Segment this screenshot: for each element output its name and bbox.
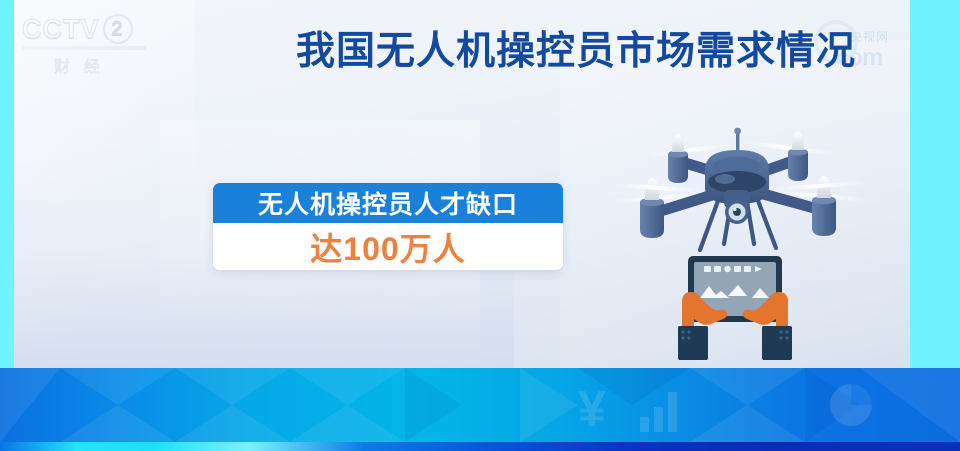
left-accent-stripe xyxy=(0,0,14,368)
cctv-logo-subtitle: 财经 xyxy=(22,53,146,77)
cctv-channel-number: 2 xyxy=(103,14,133,44)
bottom-decorative-band: ¥ xyxy=(0,368,960,451)
callout-header-label: 无人机操控员人才缺口 xyxy=(258,185,518,221)
band-lower-strip xyxy=(0,442,960,451)
yen-symbol-icon: ¥ xyxy=(578,384,606,434)
cctv-logo-text: CCTV xyxy=(22,14,100,44)
pie-chart-icon xyxy=(830,384,872,426)
band-geometric-pattern xyxy=(0,368,960,442)
cctv-logo-underline xyxy=(22,46,146,50)
statistic-callout-card: 无人机操控员人才缺口 达100万人 xyxy=(213,183,563,270)
drone-camera-gimbal xyxy=(724,190,750,224)
hands-holding-tablet-illustration xyxy=(660,252,810,364)
callout-header-bar: 无人机操控员人才缺口 xyxy=(213,183,563,223)
cctv2-logo-watermark: CCTV 2 财经 xyxy=(22,14,152,80)
callout-value-label: 达100万人 xyxy=(310,224,465,270)
broadcast-graphic-screen: CCTV 2 财经 央视网 com 我国无人机操控员市场需求情况 无人机操控员人… xyxy=(0,0,960,451)
quadcopter-drone-illustration xyxy=(604,118,872,268)
bar-chart-icon xyxy=(640,392,686,432)
callout-body: 达100万人 xyxy=(213,223,563,270)
page-title: 我国无人机操控员市场需求情况 xyxy=(296,20,876,76)
cctv-logo-row: CCTV 2 xyxy=(22,14,152,44)
